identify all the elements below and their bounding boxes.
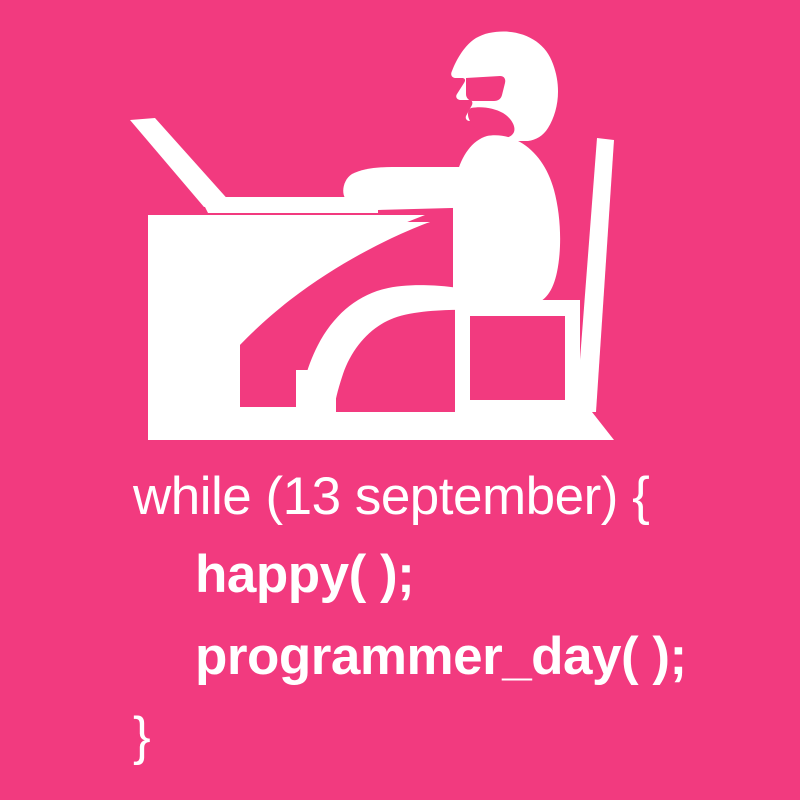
code-line-1: while (13 september) { xyxy=(133,470,649,523)
glasses-icon xyxy=(466,76,505,101)
desk-panel xyxy=(148,222,240,418)
poster-canvas: while (13 september) { happy( ); program… xyxy=(0,0,800,800)
person-shin xyxy=(296,370,336,424)
programmer-at-desk-illustration xyxy=(0,0,800,480)
person-torso xyxy=(453,135,560,304)
chair-seat xyxy=(455,300,580,412)
laptop-screen-icon xyxy=(130,118,232,207)
code-line-3: programmer_day( ); xyxy=(195,630,687,683)
code-snippet: while (13 september) { happy( ); program… xyxy=(0,462,800,800)
person-arm xyxy=(343,167,506,210)
floor xyxy=(148,412,614,440)
chair-back xyxy=(576,138,614,412)
code-line-4: } xyxy=(133,710,150,763)
code-line-2: happy( ); xyxy=(195,548,414,601)
